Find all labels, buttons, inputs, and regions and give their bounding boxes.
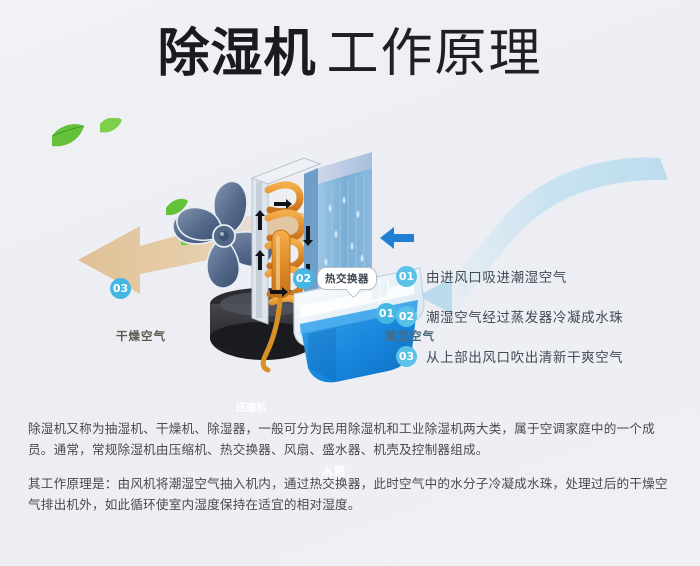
heat-exchanger-callout: 热交换器 <box>317 267 377 290</box>
diagram-badge-03: 03 <box>110 278 131 299</box>
legend-badge-02: 02 <box>396 306 417 327</box>
dry-air-label: 干燥空气 <box>116 328 166 344</box>
page-title-bold: 除湿机 <box>157 24 316 84</box>
refrigerant-receiver <box>272 230 290 298</box>
legend-list: 01 由进风口吸进潮湿空气 02 潮湿空气经过蒸发器冷凝成水珠 03 从上部出风… <box>396 256 676 376</box>
description-paragraph-2: 其工作原理是：由风机将潮湿空气抽入机内，通过热交换器，此时空气中的水分子冷凝成水… <box>28 473 676 515</box>
compressor-label: 压缩机 <box>236 399 266 414</box>
legend-badge-03: 03 <box>396 346 417 367</box>
diagram-badge-02: 02 <box>293 268 314 289</box>
infographic-page: 除湿机工作原理 <box>0 0 700 566</box>
page-title-light: 工作原理 <box>327 24 543 84</box>
description-paragraph-1: 除湿机又称为抽湿机、干燥机、除湿器，一般可分为民用除湿机和工业除湿机两大类，属于… <box>28 418 676 460</box>
legend-badge-01: 01 <box>396 266 417 287</box>
legend-text-01: 由进风口吸进潮湿空气 <box>426 266 567 286</box>
legend-text-02: 潮湿空气经过蒸发器冷凝成水珠 <box>426 306 623 326</box>
legend-item-03: 03 从上部出风口吹出清新干爽空气 <box>396 336 676 376</box>
diagram-badge-01: 01 <box>376 303 397 324</box>
description-block: 除湿机又称为抽湿机、干燥机、除湿器，一般可分为民用除湿机和工业除湿机两大类，属于… <box>28 418 676 515</box>
inlet-arrow-icon <box>380 227 414 249</box>
page-title: 除湿机工作原理 <box>0 28 700 80</box>
legend-item-02: 02 潮湿空气经过蒸发器冷凝成水珠 <box>396 296 676 336</box>
legend-item-01: 01 由进风口吸进潮湿空气 <box>396 256 676 296</box>
legend-text-03: 从上部出风口吹出清新干爽空气 <box>426 346 623 366</box>
